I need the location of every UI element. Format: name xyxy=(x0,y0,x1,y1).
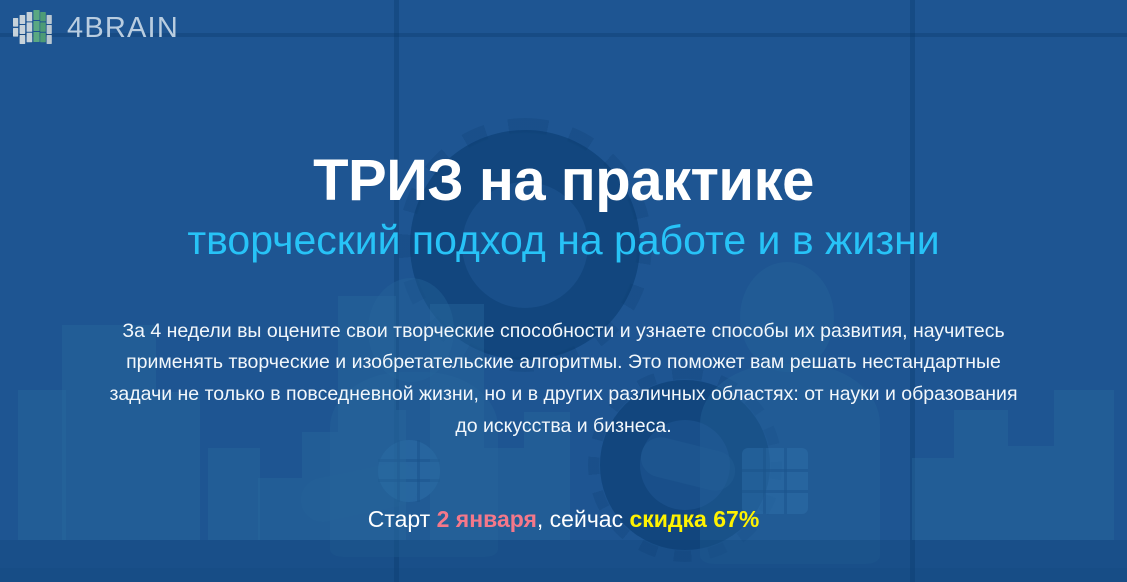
promo-middle-text: , сейчас xyxy=(537,506,630,532)
hero-content: ТРИЗ на практике творческий подход на ра… xyxy=(0,151,1127,535)
cube-logo-icon[interactable] xyxy=(12,6,54,50)
ground-band xyxy=(0,540,1127,582)
hero-description: За 4 недели вы оцените свои творческие с… xyxy=(108,316,1020,442)
site-header: 4BRAIN xyxy=(0,0,179,56)
ground-band-front xyxy=(0,568,1127,582)
promo-start-label: Старт xyxy=(368,506,437,532)
page-title: ТРИЗ на практике xyxy=(0,151,1127,212)
landing-hero-page: 4BRAIN ТРИЗ на практике творческий подхо… xyxy=(0,0,1127,582)
brand-name[interactable]: 4BRAIN xyxy=(67,14,179,43)
page-subtitle: творческий подход на работе и в жизни xyxy=(0,218,1127,264)
promo-line: Старт 2 января, сейчас скидка 67% xyxy=(0,505,1127,535)
promo-start-date: 2 января xyxy=(437,506,537,532)
promo-discount: скидка 67% xyxy=(630,506,760,532)
